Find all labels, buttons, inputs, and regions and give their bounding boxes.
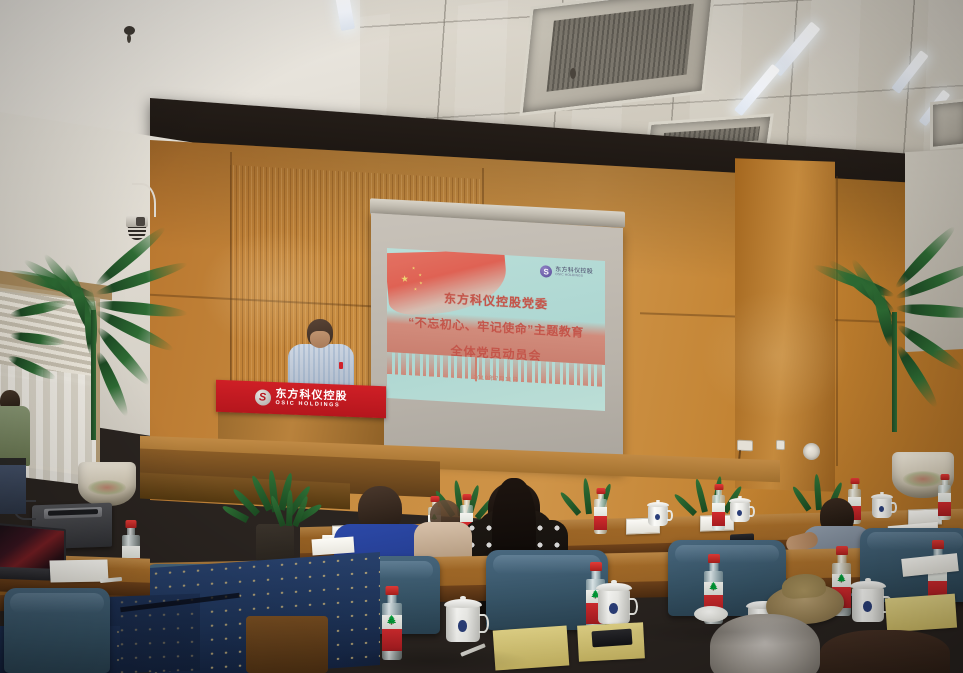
sprinkler-head-2	[127, 34, 131, 43]
wall-speaker-icon	[803, 443, 820, 460]
flag-star-big: ★	[400, 275, 409, 284]
mug-back-2[interactable]	[730, 496, 750, 522]
paper-front-1	[311, 537, 354, 556]
flag-star-2: ★	[418, 273, 422, 277]
mug-back-1[interactable]	[648, 500, 668, 526]
planter-left	[78, 462, 136, 506]
bottle-back-3[interactable]	[594, 488, 607, 534]
chair-front-left[interactable]	[4, 588, 110, 673]
palm-plant-right	[836, 262, 963, 472]
mug-front-4[interactable]	[852, 578, 884, 622]
slide-logo: S 东方科仪控股 OSIC HOLDINGS	[540, 265, 593, 280]
table-shadow-1	[330, 646, 530, 673]
slide-logo-mark-icon: S	[540, 265, 552, 278]
speaker-party-pin	[339, 362, 343, 369]
speaker-face	[310, 331, 330, 348]
attendee-7-torso	[0, 406, 30, 466]
flag-star-3: ★	[419, 281, 423, 285]
flag-star-1: ★	[412, 266, 416, 270]
bottle-back-6[interactable]	[938, 474, 951, 520]
presentation-slide: ★ ★ ★ ★ ★ S 东方科仪控股 OSIC HOLDINGS 东方科仪控股党…	[387, 248, 605, 411]
wall-outlet-2[interactable]	[776, 440, 785, 450]
podium-banner-en: OSIC HOLDINGS	[276, 401, 348, 410]
attendee-7-belt	[0, 458, 26, 465]
chair-front-wood[interactable]	[246, 616, 328, 673]
camera-lens-icon	[136, 217, 145, 226]
attendee-7-legs	[0, 462, 26, 514]
podium-logo-mark-icon: S	[255, 389, 271, 406]
slide-line-2: “不忘初心、牢记使命”主题教育	[387, 312, 605, 342]
attendee-3-torso	[414, 522, 472, 558]
bottle-back-4[interactable]	[712, 484, 725, 530]
podium-banner: S 东方科仪控股 OSIC HOLDINGS	[216, 380, 386, 419]
sprinkler-head-1	[570, 68, 576, 79]
table-shadow-2	[620, 618, 840, 646]
slide-skyline-tower	[475, 355, 477, 381]
wall-light-glow-right	[700, 290, 850, 420]
booklet-3[interactable]	[885, 594, 957, 633]
ac-vent-right	[930, 98, 963, 150]
conference-room-photo: ★ ★ ★ ★ ★ S 东方科仪控股 OSIC HOLDINGS 东方科仪控股党…	[0, 0, 963, 673]
mug-front-1[interactable]	[446, 596, 480, 642]
mug-back-3[interactable]	[872, 492, 892, 518]
